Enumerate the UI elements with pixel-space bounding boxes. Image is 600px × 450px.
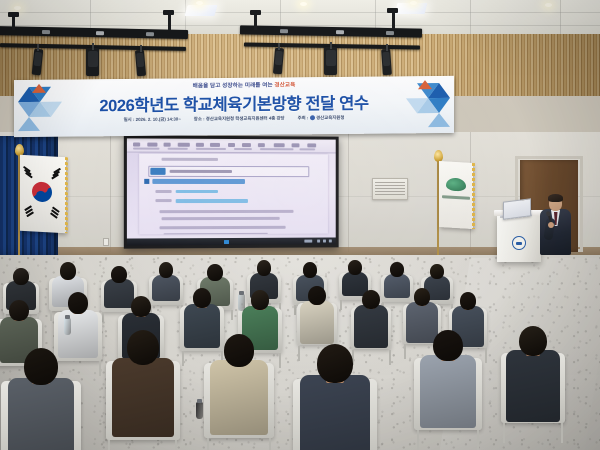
audience: [0, 0, 600, 450]
attendee-torso: [112, 358, 174, 437]
attendee-torso: [300, 301, 334, 343]
chair-leg: [231, 310, 233, 320]
attendee-torso: [184, 304, 220, 348]
water-bottle-1-cap: [65, 315, 70, 319]
chair-leg: [485, 348, 487, 363]
water-bottle-3[interactable]: [238, 294, 245, 311]
attendee-torso: [300, 375, 370, 450]
chair-leg: [175, 440, 177, 450]
attendee-head: [433, 330, 462, 361]
chair-leg: [99, 361, 101, 376]
attendee-head: [193, 288, 212, 308]
attendee-head: [68, 292, 89, 314]
attendee-head: [460, 292, 477, 310]
attendee-head: [207, 264, 223, 281]
chair-leg: [207, 438, 209, 450]
chair-leg: [269, 438, 271, 450]
attendee-torso: [354, 305, 388, 347]
attendee-head: [348, 260, 362, 275]
attendee-head: [127, 330, 159, 365]
attendee-head: [159, 262, 174, 278]
attendee-head: [317, 344, 353, 383]
chair-leg: [477, 430, 479, 450]
chair-leg: [279, 353, 281, 368]
attendee-head: [430, 264, 444, 279]
chair-leg: [298, 346, 300, 361]
water-bottle-1[interactable]: [64, 318, 71, 335]
water-bottle-3-cap: [239, 291, 244, 295]
attendee-head: [111, 266, 127, 283]
chair-leg: [108, 440, 110, 450]
attendee-torso: [210, 360, 268, 435]
chair-leg: [182, 351, 184, 366]
attendee-head: [257, 260, 272, 276]
attendee-head: [519, 326, 547, 356]
attendee-head: [390, 262, 404, 277]
attendee-torso: [406, 302, 438, 342]
attendee-torso: [384, 274, 410, 299]
chair-leg: [561, 423, 563, 443]
attendee-head: [13, 268, 29, 285]
chair-leg: [417, 430, 419, 450]
chair-leg: [389, 350, 391, 365]
water-bottle-2-cap: [197, 399, 202, 403]
attendee-head: [414, 288, 431, 306]
chair-leg: [50, 311, 52, 321]
attendee-head: [303, 262, 318, 278]
water-bottle-2[interactable]: [196, 402, 203, 419]
chair-leg: [102, 312, 104, 322]
attendee-head: [9, 300, 29, 321]
chair-leg: [503, 423, 505, 443]
chair-leg: [340, 300, 342, 310]
attendee-torso: [506, 350, 560, 421]
attendee-head: [131, 296, 151, 317]
attendee-torso: [104, 279, 134, 308]
chair-leg: [404, 344, 406, 359]
attendee-head: [24, 348, 58, 385]
auditorium-photo: 배움을 담고 성장하는 미래를 여는 경산교육 2026학년도 학교체육기본방향…: [0, 0, 600, 450]
attendee-torso: [8, 378, 74, 450]
attendee-head: [224, 334, 254, 367]
attendee-head: [308, 286, 326, 305]
attendee-head: [251, 290, 270, 310]
attendee-torso: [420, 355, 476, 428]
attendee-torso: [152, 275, 180, 302]
attendee-head: [362, 290, 380, 309]
attendee-head: [60, 262, 77, 280]
